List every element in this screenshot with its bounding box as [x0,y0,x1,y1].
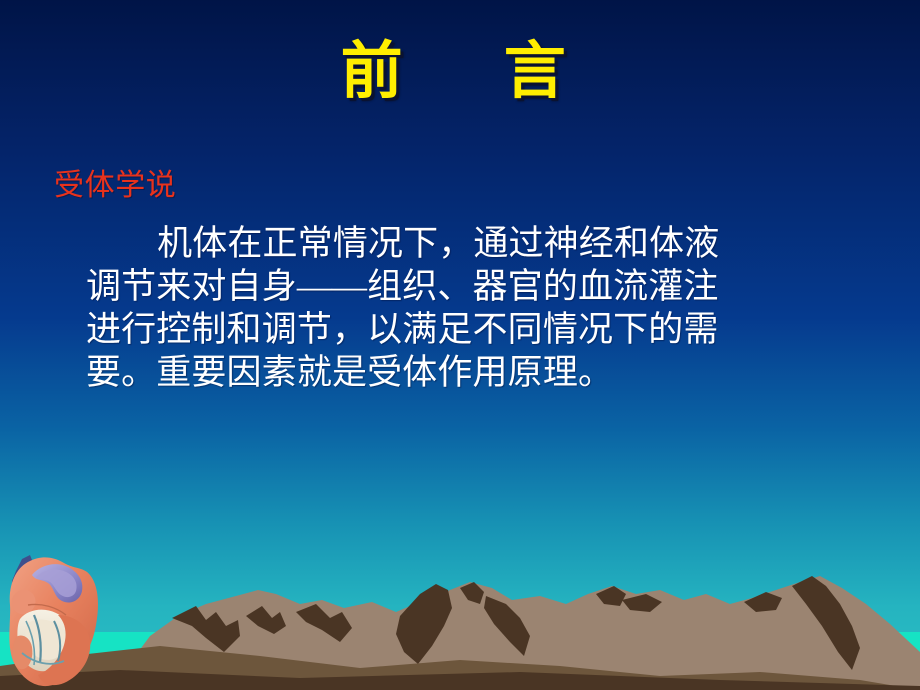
slide-title: 前 言 [0,40,920,105]
body-line-3: 进行控制和调节，以满足不同情况下的需 [86,308,886,351]
body-text-block: 机体在正常情况下，通过神经和体液 调节来对自身——组织、器官的血流灌注 进行控制… [86,222,886,394]
body-line-2: 调节来对自身——组织、器官的血流灌注 [86,265,886,308]
body-line-1: 机体在正常情况下，通过神经和体液 [86,222,886,265]
presentation-slide: 前 言 受体学说 机体在正常情况下，通过神经和体液 调节来对自身——组织、器官的… [0,0,920,690]
section-subheading: 受体学说 [54,160,176,204]
mountain-range-graphic [0,560,920,690]
anatomical-heart-icon [0,545,110,690]
body-line-4: 要。重要因素就是受体作用原理。 [86,351,886,394]
